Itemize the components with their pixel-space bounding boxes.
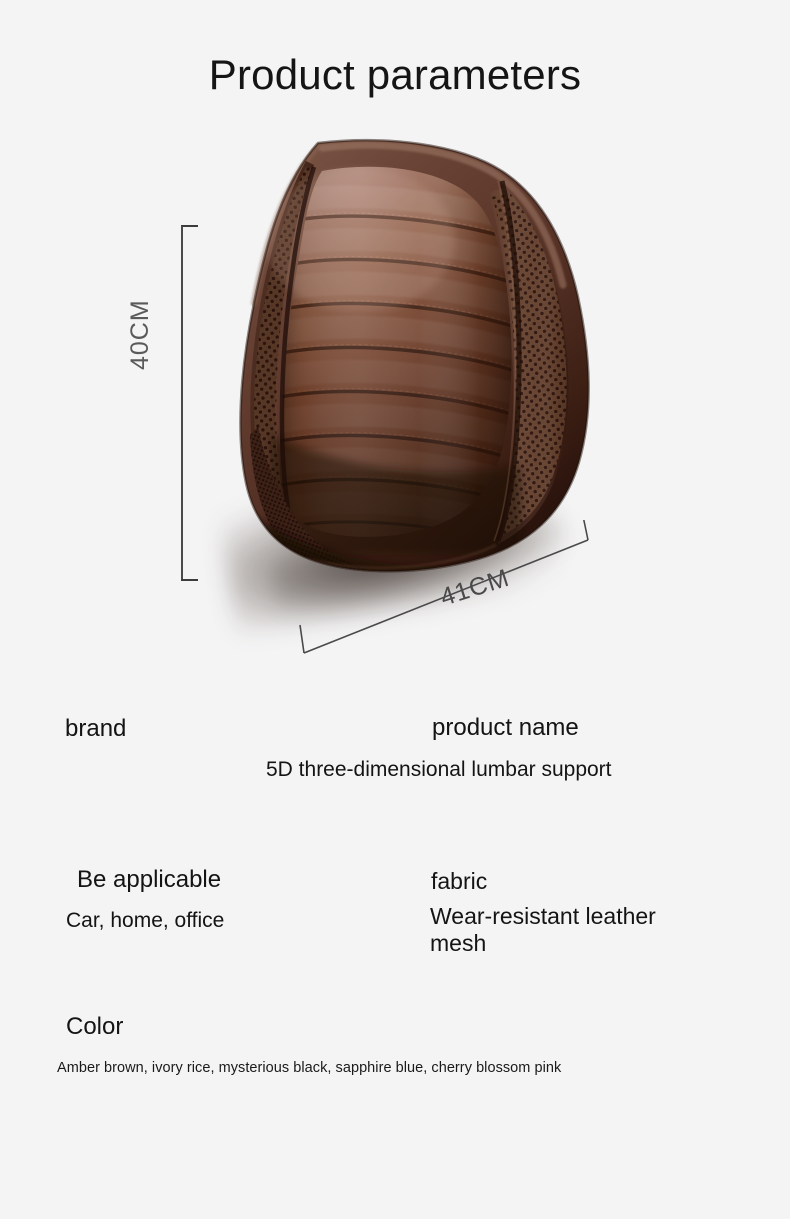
spec-value-fabric: Wear-resistant leather mesh [430,903,660,957]
spec-value-product-name: 5D three-dimensional lumbar support [266,758,612,783]
spec-value-be-applicable: Car, home, office [66,909,224,934]
product-parameters-page: Product parameters [0,0,790,1219]
height-dimension-line [181,226,183,580]
spec-value-color: Amber brown, ivory rice, mysterious blac… [57,1060,561,1077]
height-dimension-tick-bottom [181,579,198,581]
page-title: Product parameters [0,52,790,98]
spec-label-product-name: product name [432,713,579,743]
lumbar-support-cushion-image [210,135,605,583]
height-dimension-tick-top [181,225,198,227]
spec-label-fabric: fabric [431,867,487,896]
height-dimension-label: 40CM [126,299,155,370]
spec-label-color: Color [66,1012,123,1042]
spec-label-be-applicable: Be applicable [77,865,221,895]
spec-label-brand: brand [65,714,126,744]
